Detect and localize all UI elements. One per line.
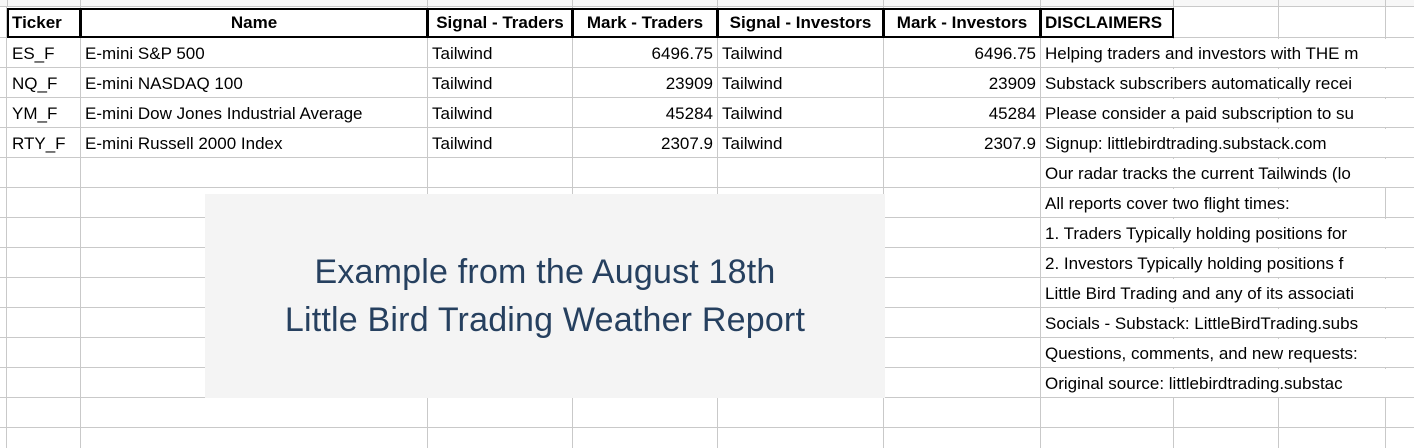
cell-signal-investors[interactable]: Tailwind: [718, 129, 883, 158]
cell-mark-investors[interactable]: 6496.75: [884, 39, 1040, 68]
cell-ticker[interactable]: NQ_F: [8, 69, 80, 98]
cell-signal-traders[interactable]: Tailwind: [428, 99, 572, 128]
cell-disclaimer[interactable]: 2. Investors Typically holding positions…: [1041, 249, 1414, 278]
column-header-name[interactable]: Name: [80, 8, 428, 38]
column-header-mark-traders[interactable]: Mark - Traders: [572, 8, 718, 38]
cell-disclaimer[interactable]: Helping traders and investors with THE m: [1041, 39, 1414, 68]
cell-disclaimer[interactable]: All reports cover two flight times:: [1041, 189, 1385, 218]
cell-ticker[interactable]: RTY_F: [8, 129, 80, 158]
cell-signal-investors[interactable]: Tailwind: [718, 99, 883, 128]
cell-mark-traders[interactable]: 23909: [573, 69, 717, 98]
cell-disclaimer[interactable]: Little Bird Trading and any of its assoc…: [1041, 279, 1414, 308]
cell-disclaimer[interactable]: 1. Traders Typically holding positions f…: [1041, 219, 1414, 248]
cell-disclaimer[interactable]: Our radar tracks the current Tailwinds (…: [1041, 159, 1414, 188]
cell-signal-traders[interactable]: Tailwind: [428, 129, 572, 158]
cell-name[interactable]: E-mini Dow Jones Industrial Average: [81, 99, 427, 128]
caption-overlay: Example from the August 18th Little Bird…: [205, 194, 885, 398]
cell-signal-traders[interactable]: Tailwind: [428, 39, 572, 68]
cell-mark-traders[interactable]: 2307.9: [573, 129, 717, 158]
cell-disclaimer[interactable]: Socials - Substack: LittleBirdTrading.su…: [1041, 309, 1414, 338]
column-header-ticker[interactable]: Ticker: [7, 8, 81, 38]
column-header-disclaimers[interactable]: DISCLAIMERS: [1040, 8, 1174, 38]
cell-name[interactable]: E-mini S&P 500: [81, 39, 427, 68]
spreadsheet-canvas: Ticker Name Signal - Traders Mark - Trad…: [0, 0, 1414, 448]
cell-mark-investors[interactable]: 2307.9: [884, 129, 1040, 158]
cell-signal-investors[interactable]: Tailwind: [718, 39, 883, 68]
cell-name[interactable]: E-mini NASDAQ 100: [81, 69, 427, 98]
cell-disclaimer[interactable]: Questions, comments, and new requests:: [1041, 339, 1414, 368]
cell-ticker[interactable]: ES_F: [8, 39, 80, 68]
row-gutter-column: [0, 7, 7, 448]
cell-name[interactable]: E-mini Russell 2000 Index: [81, 129, 427, 158]
caption-line-1: Example from the August 18th: [314, 248, 775, 296]
column-header-mark-investors[interactable]: Mark - Investors: [883, 8, 1041, 38]
caption-line-2: Little Bird Trading Weather Report: [285, 296, 805, 344]
cell-mark-traders[interactable]: 6496.75: [573, 39, 717, 68]
cell-signal-traders[interactable]: Tailwind: [428, 69, 572, 98]
cell-disclaimer[interactable]: Signup: littlebirdtrading.substack.com: [1041, 129, 1414, 158]
column-header-signal-traders[interactable]: Signal - Traders: [427, 8, 573, 38]
cell-mark-investors[interactable]: 45284: [884, 99, 1040, 128]
cell-mark-investors[interactable]: 23909: [884, 69, 1040, 98]
top-row-sliver: [0, 0, 1414, 7]
cell-disclaimer[interactable]: Please consider a paid subscription to s…: [1041, 99, 1414, 128]
cell-disclaimer[interactable]: Substack subscribers automatically recei: [1041, 69, 1414, 98]
cell-disclaimer[interactable]: Original source: littlebirdtrading.subst…: [1041, 369, 1414, 398]
gridline-h: [0, 427, 1414, 428]
cell-signal-investors[interactable]: Tailwind: [718, 69, 883, 98]
cell-mark-traders[interactable]: 45284: [573, 99, 717, 128]
column-header-signal-investors[interactable]: Signal - Investors: [717, 8, 884, 38]
cell-ticker[interactable]: YM_F: [8, 99, 80, 128]
